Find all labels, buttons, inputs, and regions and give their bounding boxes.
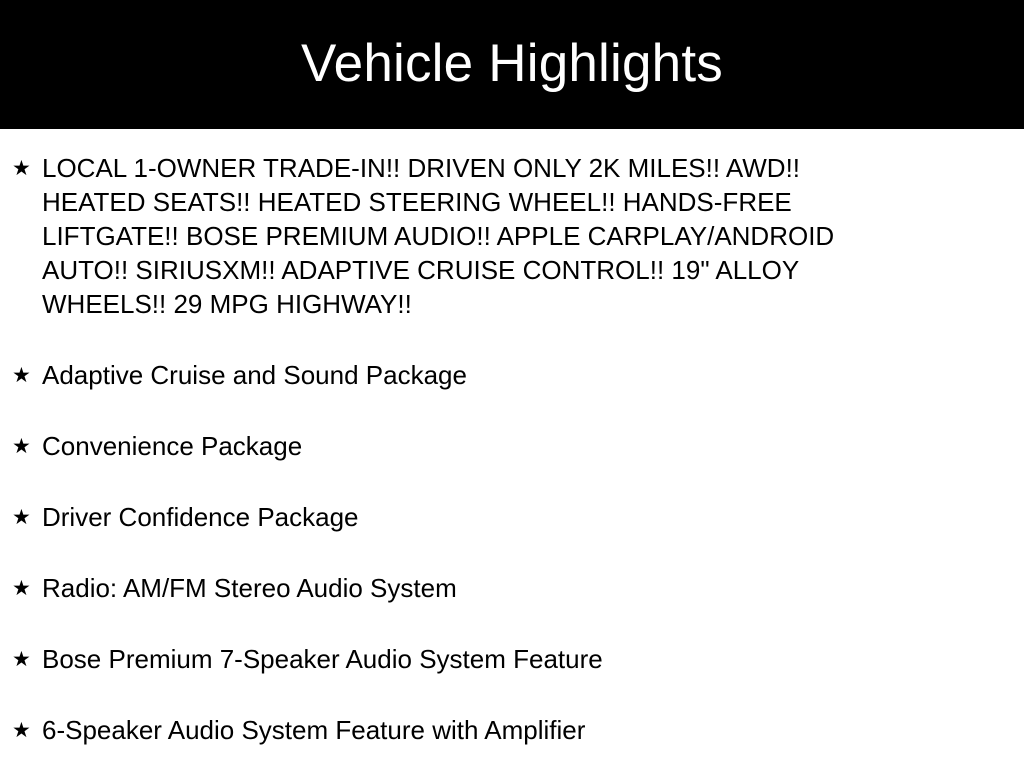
list-item-label: LOCAL 1-OWNER TRADE-IN!! DRIVEN ONLY 2K … (42, 151, 966, 321)
highlights-list: ★ LOCAL 1-OWNER TRADE-IN!! DRIVEN ONLY 2… (0, 129, 1024, 747)
star-bullet-icon: ★ (12, 713, 42, 747)
list-item-label: Convenience Package (42, 429, 962, 463)
star-bullet-icon: ★ (12, 429, 42, 463)
list-item-label: Driver Confidence Package (42, 500, 962, 534)
list-item: ★ Adaptive Cruise and Sound Package (0, 321, 1024, 392)
vehicle-highlights-page: Vehicle Highlights ★ LOCAL 1-OWNER TRADE… (0, 0, 1024, 768)
list-item: ★ Radio: AM/FM Stereo Audio System (0, 534, 1024, 605)
star-bullet-icon: ★ (12, 151, 42, 185)
star-bullet-icon: ★ (12, 642, 42, 676)
star-bullet-icon: ★ (12, 571, 42, 605)
star-bullet-icon: ★ (12, 500, 42, 534)
star-bullet-icon: ★ (12, 358, 42, 392)
list-item: ★ Bose Premium 7-Speaker Audio System Fe… (0, 605, 1024, 676)
list-item: ★ 6-Speaker Audio System Feature with Am… (0, 676, 1024, 747)
list-item: ★ LOCAL 1-OWNER TRADE-IN!! DRIVEN ONLY 2… (0, 129, 1024, 321)
page-title: Vehicle Highlights (301, 37, 723, 90)
list-item-label: Radio: AM/FM Stereo Audio System (42, 571, 962, 605)
list-item: ★ Driver Confidence Package (0, 463, 1024, 534)
list-item-label: Adaptive Cruise and Sound Package (42, 358, 962, 392)
list-item-label: Bose Premium 7-Speaker Audio System Feat… (42, 642, 962, 676)
list-item: ★ Convenience Package (0, 392, 1024, 463)
list-item-label: 6-Speaker Audio System Feature with Ampl… (42, 713, 962, 747)
page-header-band: Vehicle Highlights (0, 0, 1024, 129)
